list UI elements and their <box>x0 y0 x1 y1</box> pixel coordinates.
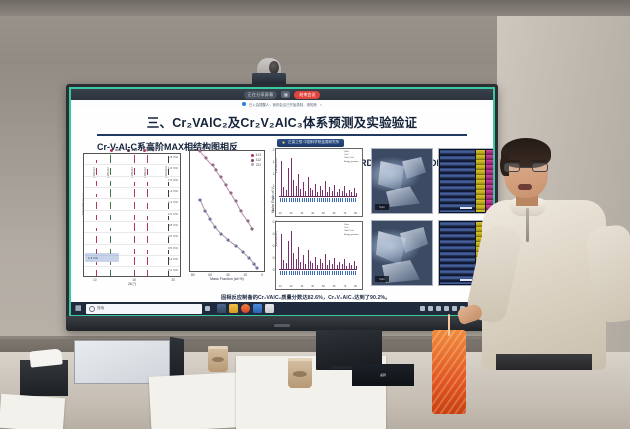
bragg-tick <box>304 198 305 202</box>
legend-312: 312 <box>131 148 137 152</box>
diffraction-peak <box>334 258 335 269</box>
diffraction-peak <box>96 202 97 209</box>
xrd-waterfall-chart: 413 312 211 Intensity (a.u.) (002)413(00… <box>83 148 181 294</box>
series-label: 0.5 V/C <box>168 246 178 250</box>
diffraction-peak <box>147 189 148 197</box>
search-placeholder: 搜索 <box>97 306 104 311</box>
bragg-tick <box>284 271 285 275</box>
bragg-tick <box>349 271 350 275</box>
diffraction-peak <box>96 181 97 186</box>
xtick: 40 <box>311 212 314 215</box>
xtick: 60 <box>333 212 336 215</box>
diffraction-peak <box>291 158 292 196</box>
presentation-slide: 三、Cr₂VAlC₂及Cr₂V₂AlC₃体系预测及实验验证 Cr-V-Al-C系… <box>71 108 493 315</box>
diffraction-peak <box>134 155 135 163</box>
bragg-tick <box>299 271 300 275</box>
diffraction-peak <box>147 203 148 209</box>
diffraction-peak <box>110 215 111 220</box>
diffraction-peak <box>134 189 135 197</box>
bragg-tick <box>338 198 339 202</box>
diffraction-peak <box>281 234 282 269</box>
bragg-tick <box>286 271 287 275</box>
data-point <box>198 199 201 202</box>
bragg-tick <box>349 198 350 202</box>
bragg-tick <box>353 198 354 202</box>
bragg-tick <box>345 271 346 275</box>
bragg-tick <box>345 198 346 202</box>
presenter-brow-right <box>532 160 546 162</box>
mail-icon[interactable] <box>253 304 262 313</box>
bragg-tick <box>319 271 320 275</box>
end-meeting-button[interactable]: 结束会议 <box>294 91 320 99</box>
bragg-tick <box>334 198 335 202</box>
xtick: 20 <box>290 212 293 215</box>
bragg-tick <box>297 198 298 202</box>
xrd-pattern-row: 1.4 V/C <box>84 188 180 199</box>
title-divider <box>97 134 467 136</box>
bragg-tick <box>323 198 324 202</box>
xrd-trace <box>279 227 357 269</box>
powerpoint-icon[interactable] <box>265 304 274 313</box>
bragg-tick <box>282 271 283 275</box>
cup-lid <box>208 346 228 349</box>
bragg-tick <box>317 198 318 202</box>
xtick: 20 <box>290 285 293 288</box>
diffraction-peak <box>96 262 97 265</box>
presenter <box>474 130 630 370</box>
bragg-tick <box>314 271 315 275</box>
presenter-brow-left <box>506 160 520 162</box>
series-label: 1.4 V/C <box>168 189 178 193</box>
diffraction-peak <box>134 223 135 231</box>
slide-title: 三、Cr₂VAlC₂及Cr₂V₂AlC₃体系预测及实验验证 <box>81 112 483 131</box>
bragg-tick <box>338 271 339 275</box>
series-label: 0.4 V/C <box>168 257 178 261</box>
haadf-atomic-image <box>440 222 475 284</box>
glasses-lens-right <box>532 163 548 172</box>
bragg-tick <box>325 198 326 202</box>
bragg-tick <box>308 198 309 202</box>
diffraction-peak <box>134 168 135 174</box>
diffraction-peak <box>303 182 304 196</box>
bragg-tick <box>325 271 326 275</box>
bragg-tick <box>306 271 307 275</box>
bragg-tick <box>289 198 290 202</box>
diffraction-peak <box>288 168 289 196</box>
legend-211: 211 <box>256 163 261 168</box>
paper-cup-2 <box>288 358 312 388</box>
diffraction-peak <box>298 174 299 196</box>
bragg-tick <box>351 271 352 275</box>
diffraction-peak <box>315 257 316 269</box>
bragg-tick <box>319 198 320 202</box>
bragg-tick <box>299 198 300 202</box>
battery-icon[interactable] <box>428 306 433 311</box>
bragg-tick <box>323 271 324 275</box>
diffraction-peak <box>110 155 111 163</box>
diffraction-peak <box>325 181 326 196</box>
orange-drink-bottle <box>432 330 466 414</box>
molar-ratio-chart: 413 312 211 0.00.20.40.60.81.01.21.41.61… <box>189 150 265 294</box>
presenter-glasses <box>504 163 548 172</box>
xtick: 80 <box>191 273 195 277</box>
xrd-pattern-row: 0.6 V/C <box>84 233 180 244</box>
diffraction-peak <box>134 202 135 208</box>
bragg-tick <box>291 271 292 275</box>
bragg-tick <box>355 271 356 275</box>
diffraction-peak <box>168 182 169 186</box>
highlighted-row-label: 1.4 V/C <box>85 253 119 262</box>
diffraction-peak <box>320 259 321 269</box>
sem-image-2: 5 μm <box>371 220 433 286</box>
diffraction-peak <box>296 186 297 196</box>
diffraction-peak <box>168 224 169 232</box>
diffraction-peak <box>96 194 97 197</box>
xtick: 20 <box>171 278 175 282</box>
xrd-trace <box>279 154 357 196</box>
molar-ratio-legend: 413 312 211 <box>251 153 261 167</box>
screen-share-status: 正在分享屏幕 <box>244 91 278 99</box>
slide-figures: 413 312 211 Intensity (a.u.) (002)413(00… <box>79 148 485 296</box>
printed-handout-3 <box>0 394 65 429</box>
diffraction-peak <box>320 186 321 196</box>
diffraction-peak <box>168 257 169 265</box>
bragg-tick <box>329 271 330 275</box>
diffraction-peak <box>168 156 169 164</box>
haadf-atomic-image <box>440 150 475 212</box>
conference-room: 正在分享屏幕 ▦ 结束会议 已入会提醒人：我的会议已开始录制，请知悉 × 三、C… <box>0 0 630 429</box>
xtick: 10 <box>279 212 282 215</box>
diffraction-peak <box>134 215 135 220</box>
close-icon[interactable]: × <box>320 102 322 107</box>
bragg-tick <box>295 271 296 275</box>
diffraction-peak <box>134 249 135 254</box>
bragg-tick <box>280 198 281 202</box>
bragg-tick <box>355 198 356 202</box>
xrd-ylabel: Intensity (a.u.) <box>275 231 278 246</box>
circle-icon <box>89 306 95 312</box>
display-monitor: 正在分享屏幕 ▦ 结束会议 已入会提醒人：我的会议已开始录制，请知悉 × 三、C… <box>66 84 498 331</box>
glasses-lens-left <box>504 163 520 172</box>
bragg-tick <box>317 271 318 275</box>
chevron-up-icon[interactable] <box>436 306 441 311</box>
recording-notice-text: 已入会提醒人：我的会议已开始录制，请知悉 <box>249 102 317 107</box>
bragg-tick <box>284 198 285 202</box>
xrd-baseline <box>279 196 357 197</box>
series-label: 1.8 V/C <box>168 155 178 159</box>
diffraction-peak <box>147 155 148 163</box>
diffraction-peak <box>96 270 97 277</box>
affiliation-chip: ● 正高之恒 中国科学院金属研究所 <box>277 139 344 147</box>
diffraction-peak <box>147 250 148 255</box>
bragg-tick <box>340 198 341 202</box>
diffraction-peak <box>110 189 111 197</box>
info-dot-icon <box>242 102 246 106</box>
tissue <box>29 348 62 367</box>
presenter-mouth <box>518 184 532 190</box>
search-input[interactable]: 搜索 <box>86 304 202 314</box>
diffraction-peak <box>147 216 148 220</box>
diffraction-peak <box>291 231 292 269</box>
bragg-tick <box>342 271 343 275</box>
diffraction-peak <box>325 254 326 269</box>
xrd-waterfall-legend: 413 312 211 <box>83 148 181 152</box>
series-label: 1.5 V/C <box>168 178 178 182</box>
diffraction-peak <box>168 216 169 220</box>
bragg-tick <box>340 271 341 275</box>
xrd-waterfall-xlabel: 2θ (°) <box>83 282 181 286</box>
xrd-pattern-row: 0.2 V/C <box>84 267 180 277</box>
diffraction-peak <box>168 250 169 254</box>
series-label: 0.6 V/C <box>168 234 178 238</box>
xrd-pattern-row: 1.6 V/C <box>84 165 180 176</box>
diffraction-peak <box>96 168 97 175</box>
xrd-pattern-row: 1.5 V/C <box>84 177 180 188</box>
xtick: 10 <box>93 278 97 282</box>
bragg-tick <box>310 271 311 275</box>
diffraction-peak <box>96 228 97 231</box>
diffraction-peak <box>134 270 135 277</box>
diffraction-peak <box>303 255 304 269</box>
legend-211: 211 <box>148 148 154 152</box>
scale-bar: 5 μm <box>375 204 389 210</box>
bragg-tick <box>306 198 307 202</box>
diffraction-peak <box>110 236 111 243</box>
diffraction-peak <box>110 181 111 186</box>
xtick: 50 <box>322 212 325 215</box>
data-point <box>251 228 254 231</box>
diffraction-peak <box>134 236 135 243</box>
xrd-refinement-panels: Intensity (a.u.) YobsYcalYobs-YcalBragg_… <box>275 148 363 294</box>
bragg-tick <box>327 271 328 275</box>
series-label: 1.6 V/C <box>168 166 178 170</box>
presenter-zipper <box>526 208 529 242</box>
pen-icon[interactable] <box>420 306 425 311</box>
diffraction-peak <box>96 215 97 220</box>
ceiling-strip <box>0 0 630 16</box>
sem-image-1: 5 μm <box>371 148 433 214</box>
windows-start-icon[interactable]: ▦ <box>75 305 83 313</box>
xtick: 10 <box>279 285 282 288</box>
xrd-xticks: 1020304050607080 <box>279 285 357 288</box>
xtick: 80 <box>354 212 357 215</box>
display-bezel: 正在分享屏幕 ▦ 结束会议 已入会提醒人：我的会议已开始录制，请知悉 × 三、C… <box>69 87 495 317</box>
bragg-tick <box>280 271 281 275</box>
diffraction-peak <box>147 182 148 186</box>
diffraction-peak <box>293 253 294 269</box>
diffraction-peak <box>134 182 135 187</box>
xrd-pattern-row: 1.8 V/C <box>84 154 180 165</box>
task-view-icon[interactable] <box>217 304 226 313</box>
bragg-tick <box>327 198 328 202</box>
diffraction-peak <box>168 190 169 198</box>
diffraction-peak <box>168 169 169 175</box>
diffraction-peak <box>168 203 169 209</box>
bragg-tick <box>312 198 313 202</box>
bragg-tick <box>302 271 303 275</box>
scale-bar-icon <box>460 279 472 281</box>
diffraction-peak <box>96 160 97 163</box>
xrd-pattern-row: 0.8 V/C <box>84 222 180 233</box>
volume-icon[interactable] <box>452 306 457 311</box>
bragg-tick <box>308 271 309 275</box>
bragg-tick <box>304 271 305 275</box>
presenter-trousers <box>496 354 592 370</box>
diffraction-peak <box>110 262 111 265</box>
xrd-pattern-row: 1.2 V/C <box>84 199 180 210</box>
series-label: 1.0 V/C <box>168 212 178 216</box>
table-nameplate: 桌牌 <box>352 364 414 386</box>
bragg-tick <box>282 198 283 202</box>
diffraction-peak <box>134 257 135 265</box>
molar-ratio-plot-area: 413 312 211 <box>189 150 265 272</box>
bragg-tick <box>293 198 294 202</box>
diffraction-peak <box>298 247 299 269</box>
xrd-ylabel: Intensity (a.u.) <box>275 158 278 173</box>
diffraction-peak <box>334 185 335 196</box>
bragg-tick <box>289 271 290 275</box>
bragg-tick <box>310 198 311 202</box>
bragg-tick <box>295 198 296 202</box>
xtick: 60 <box>333 285 336 288</box>
diffraction-peak <box>168 237 169 243</box>
windows-taskbar[interactable]: ▦ 搜索 <box>71 302 493 315</box>
bragg-tick <box>321 271 322 275</box>
xtick: 70 <box>344 212 347 215</box>
xtick: 0 <box>261 273 263 277</box>
xtick: 50 <box>322 285 325 288</box>
diffraction-peak <box>168 271 169 277</box>
xtick: 40 <box>311 285 314 288</box>
file-explorer-icon[interactable] <box>229 304 238 313</box>
series-label: 0.8 V/C <box>168 223 178 227</box>
bragg-tick <box>347 198 348 202</box>
diffraction-peak <box>308 177 309 196</box>
bragg-tick-row <box>279 198 357 204</box>
diffraction-peak <box>147 223 148 231</box>
scale-bar-icon <box>460 207 472 209</box>
xtick: 30 <box>301 212 304 215</box>
bragg-tick <box>342 198 343 202</box>
diffraction-peak <box>110 228 111 231</box>
diffraction-peak <box>110 270 111 277</box>
bragg-tick <box>347 271 348 275</box>
diffraction-peak <box>308 250 309 269</box>
diffraction-peak <box>147 257 148 265</box>
bragg-tick <box>293 271 294 275</box>
paper-cup-1 <box>208 346 228 372</box>
diffraction-peak <box>296 259 297 269</box>
bragg-tick <box>332 198 333 202</box>
xrd-xticks: 1020304050607080 <box>279 212 357 215</box>
diffraction-peak <box>147 169 148 175</box>
xtick: 70 <box>344 285 347 288</box>
xrd-waterfall-plot-area: (002)413(004)312(006)413(008)312(0010)21… <box>83 153 181 277</box>
diffraction-peak <box>110 202 111 209</box>
bragg-tick <box>332 271 333 275</box>
bragg-tick <box>336 198 337 202</box>
cup-lid <box>288 358 312 361</box>
molar-ratio-xlabel: Mass Fraction (wt.%) <box>189 277 265 281</box>
xtick: 80 <box>354 285 357 288</box>
bragg-tick <box>321 198 322 202</box>
scale-bar: 5 μm <box>375 276 389 282</box>
recording-notice: 已入会提醒人：我的会议已开始录制，请知悉 × <box>71 100 493 108</box>
bragg-tick <box>336 271 337 275</box>
bragg-tick-row <box>279 271 357 277</box>
bragg-tick <box>286 198 287 202</box>
bragg-tick <box>353 271 354 275</box>
diffraction-peak <box>288 241 289 269</box>
glasses-bridge <box>520 167 532 168</box>
badge-icon: ● <box>282 140 285 146</box>
xtick: 20 <box>244 273 248 277</box>
xrd-pattern-row: 1.0 V/C <box>84 211 180 222</box>
bragg-tick <box>312 271 313 275</box>
diffraction-peak <box>110 168 111 175</box>
bragg-tick <box>329 198 330 202</box>
straw <box>448 314 450 336</box>
display-chin <box>66 316 498 331</box>
screen: 正在分享屏幕 ▦ 结束会议 已入会提醒人：我的会议已开始录制，请知悉 × 三、C… <box>71 89 493 315</box>
bragg-tick <box>291 198 292 202</box>
diffraction-peak <box>281 161 282 196</box>
diffraction-peak <box>293 180 294 196</box>
xtick: 30 <box>301 285 304 288</box>
diffraction-peak <box>315 184 316 196</box>
bragg-tick <box>334 271 335 275</box>
xrd-baseline <box>279 269 357 270</box>
xrd-rietveld-413: Intensity (a.u.) YobsYcalYobs-YcalBragg_… <box>275 148 363 217</box>
affiliation-text: 正高之恒 中国科学院金属研究所 <box>288 140 339 145</box>
bragg-tick <box>302 198 303 202</box>
diffraction-peak <box>147 236 148 242</box>
display-logo <box>274 324 290 327</box>
bragg-tick <box>314 198 315 202</box>
xrd-rietveld-312: Intensity (a.u.) YobsYcalYobs-YcalBragg_… <box>275 221 363 290</box>
bottle-wrapper <box>432 330 466 414</box>
meeting-toolbar[interactable]: 正在分享屏幕 ▦ 结束会议 <box>71 89 493 100</box>
legend-413: 413 <box>115 148 121 152</box>
diffraction-peak <box>96 236 97 243</box>
series-label: 0.2 V/C <box>168 268 178 272</box>
bragg-tick <box>297 271 298 275</box>
grid-icon[interactable]: ▦ <box>281 91 290 98</box>
microphone-icon[interactable] <box>205 306 210 311</box>
diffraction-peak <box>147 270 148 276</box>
browser-icon[interactable] <box>241 304 250 313</box>
slide-caption: 固相反应制备的Cr₂VAlC₂质量分数达82.6%，Cr₂V₂AlC₃达到了90… <box>221 294 479 301</box>
network-icon[interactable] <box>444 306 449 311</box>
bragg-tick <box>351 198 352 202</box>
series-label: 1.2 V/C <box>168 200 178 204</box>
pinned-apps <box>217 304 274 313</box>
